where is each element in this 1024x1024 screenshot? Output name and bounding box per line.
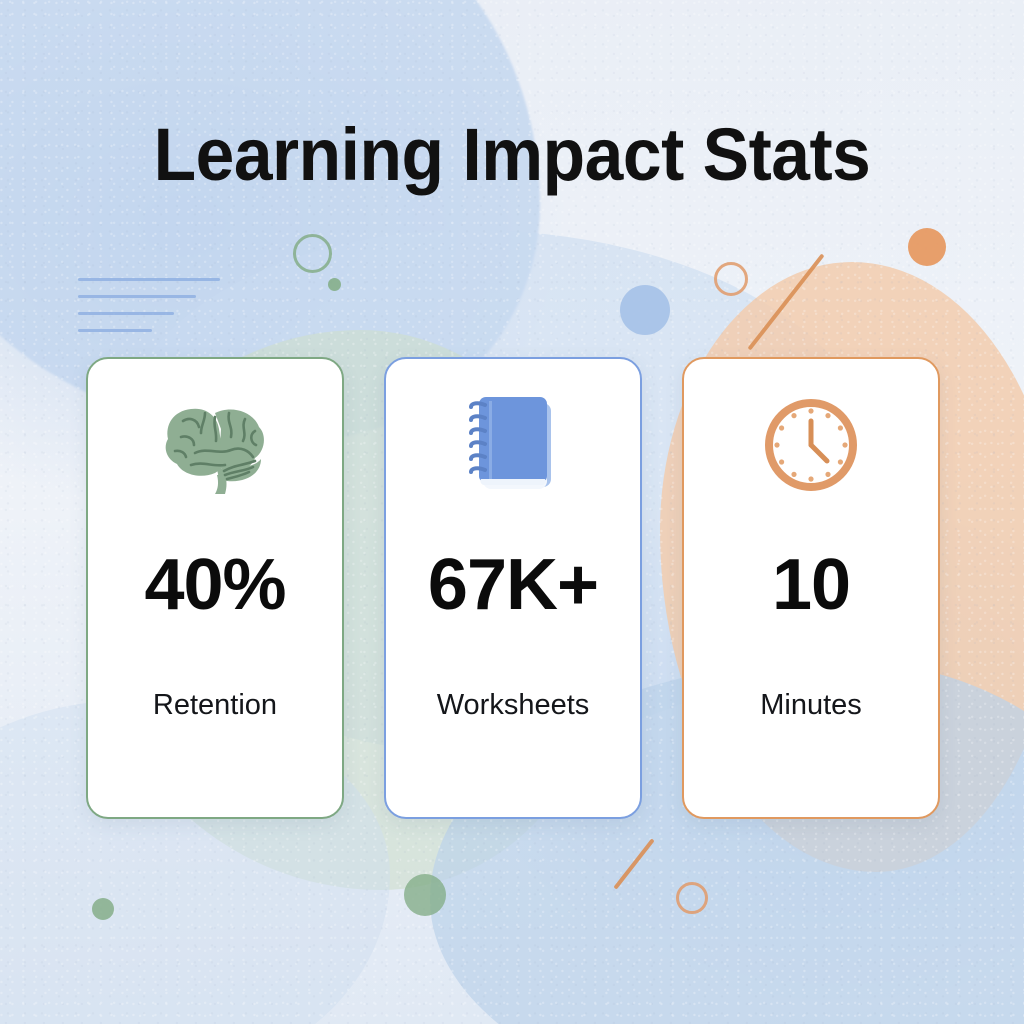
- decorative-dot-green-small: [328, 278, 341, 291]
- decorative-dot-green-bottom-mid: [404, 874, 446, 916]
- stat-card-minutes[interactable]: 10 Minutes: [682, 357, 940, 819]
- stat-icon-wrap: [161, 359, 269, 531]
- decorative-dot-green-bottom-left: [92, 898, 114, 920]
- stat-label: Worksheets: [437, 689, 590, 722]
- page-title: Learning Impact Stats: [31, 112, 994, 197]
- spiral-notebook-icon: [465, 393, 561, 497]
- stats-poster: Learning Impact Stats: [0, 0, 1024, 1024]
- stat-card-retention[interactable]: 40% Retention: [86, 357, 344, 819]
- brain-icon: [161, 395, 269, 495]
- stat-label: Retention: [153, 689, 277, 722]
- stat-label: Minutes: [760, 689, 862, 722]
- stat-icon-wrap: [465, 359, 561, 531]
- decorative-ring-orange-top: [714, 262, 748, 296]
- decorative-dot-blue: [620, 285, 670, 335]
- decorative-ring-orange-bottom: [676, 882, 708, 914]
- decorative-ring-green: [293, 234, 332, 273]
- stat-card-row: 40% Retention: [86, 357, 940, 819]
- stat-icon-wrap: [761, 359, 861, 531]
- stat-value: 67K+: [428, 549, 598, 621]
- decorative-line-stack: [78, 278, 220, 346]
- clock-icon: [761, 395, 861, 495]
- stat-value: 40%: [144, 549, 285, 621]
- stat-value: 10: [772, 549, 850, 621]
- decorative-dot-orange: [908, 228, 946, 266]
- stat-card-worksheets[interactable]: 67K+ Worksheets: [384, 357, 642, 819]
